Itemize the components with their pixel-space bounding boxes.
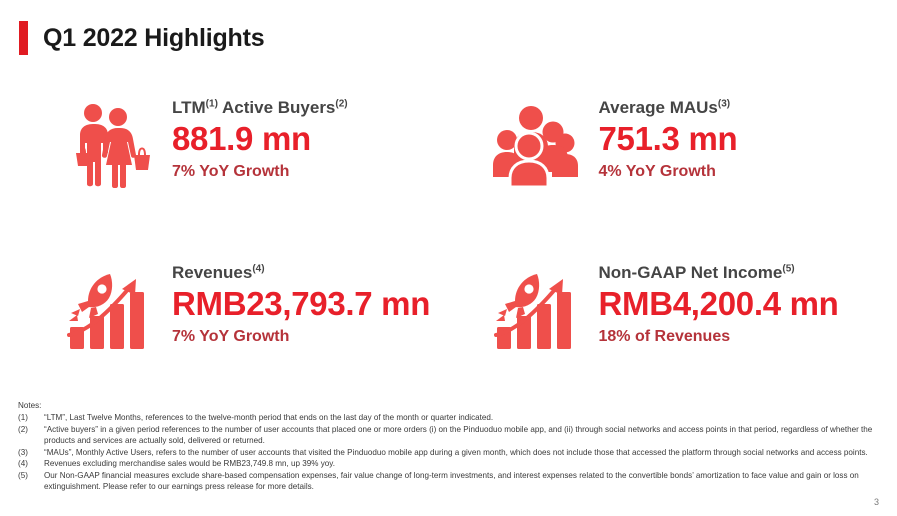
metric-label-revenues: Revenues(4) xyxy=(172,263,430,283)
metric-sub-non-gaap-net-income: 18% of Revenues xyxy=(599,327,839,346)
metric-label-rest: Active Buyers xyxy=(218,98,335,117)
metric-label-main: LTM xyxy=(172,98,206,117)
rocket-growth-icon xyxy=(62,257,158,357)
metric-label-active-buyers: LTM(1) Active Buyers(2) xyxy=(172,98,348,118)
footnote-text: Revenues excluding merchandise sales wou… xyxy=(44,458,880,469)
metrics-row-top: LTM(1) Active Buyers(2) 881.9 mn 7% YoY … xyxy=(0,92,897,257)
footnote-number: (1) xyxy=(18,412,44,423)
metric-sub-revenues: 7% YoY Growth xyxy=(172,327,430,346)
metric-sub-average-maus: 4% YoY Growth xyxy=(599,162,738,181)
footnote-item: (4) Revenues excluding merchandise sales… xyxy=(18,458,880,469)
metric-value-average-maus: 751.3 mn xyxy=(599,119,738,159)
footnote-text: Our Non-GAAP financial measures exclude … xyxy=(44,470,880,493)
metric-body: Average MAUs(3) 751.3 mn 4% YoY Growth xyxy=(585,92,738,181)
metric-label-footnote-ref: (4) xyxy=(252,263,264,274)
footnotes-heading: Notes: xyxy=(18,400,880,411)
metric-card-revenues: Revenues(4) RMB23,793.7 mn 7% YoY Growth xyxy=(0,257,471,422)
page-title: Q1 2022 Highlights xyxy=(19,21,264,55)
metric-label-footnote-ref-2: (2) xyxy=(335,98,347,109)
footnote-number: (5) xyxy=(18,470,44,481)
metric-body: Revenues(4) RMB23,793.7 mn 7% YoY Growth xyxy=(158,257,430,346)
metric-label-main: Average MAUs xyxy=(599,98,718,117)
footnote-text: “LTM”, Last Twelve Months, references to… xyxy=(44,412,880,423)
metrics-grid: LTM(1) Active Buyers(2) 881.9 mn 7% YoY … xyxy=(0,92,897,422)
page-title-text: Q1 2022 Highlights xyxy=(43,24,264,53)
metric-card-active-buyers: LTM(1) Active Buyers(2) 881.9 mn 7% YoY … xyxy=(0,92,471,257)
metric-sub-active-buyers: 7% YoY Growth xyxy=(172,162,348,181)
page-number: 3 xyxy=(874,497,879,507)
shoppers-icon xyxy=(62,92,158,192)
metric-body: Non-GAAP Net Income(5) RMB4,200.4 mn 18%… xyxy=(585,257,839,346)
metric-card-non-gaap-net-income: Non-GAAP Net Income(5) RMB4,200.4 mn 18%… xyxy=(471,257,897,422)
footnote-number: (2) xyxy=(18,424,44,435)
metric-value-non-gaap-net-income: RMB4,200.4 mn xyxy=(599,284,839,324)
footnote-item: (2) “Active buyers” in a given period re… xyxy=(18,424,880,447)
footnote-item: (3) “MAUs”, Monthly Active Users, refers… xyxy=(18,447,880,458)
footnote-number: (3) xyxy=(18,447,44,458)
footnote-item: (1) “LTM”, Last Twelve Months, reference… xyxy=(18,412,880,423)
footnote-number: (4) xyxy=(18,458,44,469)
metric-label-footnote-ref: (1) xyxy=(206,98,218,109)
footnote-text: “MAUs”, Monthly Active Users, refers to … xyxy=(44,447,880,458)
metric-value-revenues: RMB23,793.7 mn xyxy=(172,284,430,324)
people-group-icon xyxy=(489,92,585,192)
metric-label-main: Revenues xyxy=(172,263,252,282)
metric-label-footnote-ref: (5) xyxy=(782,263,794,274)
footnote-text: “Active buyers” in a given period refere… xyxy=(44,424,880,447)
metrics-row-bottom: Revenues(4) RMB23,793.7 mn 7% YoY Growth xyxy=(0,257,897,422)
footnotes: Notes: (1) “LTM”, Last Twelve Months, re… xyxy=(18,400,880,493)
metric-body: LTM(1) Active Buyers(2) 881.9 mn 7% YoY … xyxy=(158,92,348,181)
metric-card-average-maus: Average MAUs(3) 751.3 mn 4% YoY Growth xyxy=(471,92,897,257)
title-accent-bar xyxy=(19,21,28,55)
rocket-growth-icon xyxy=(489,257,585,357)
footnote-item: (5) Our Non-GAAP financial measures excl… xyxy=(18,470,880,493)
metric-value-active-buyers: 881.9 mn xyxy=(172,119,348,159)
metric-label-non-gaap-net-income: Non-GAAP Net Income(5) xyxy=(599,263,839,283)
metric-label-footnote-ref: (3) xyxy=(718,98,730,109)
metric-label-main: Non-GAAP Net Income xyxy=(599,263,783,282)
metric-label-average-maus: Average MAUs(3) xyxy=(599,98,738,118)
